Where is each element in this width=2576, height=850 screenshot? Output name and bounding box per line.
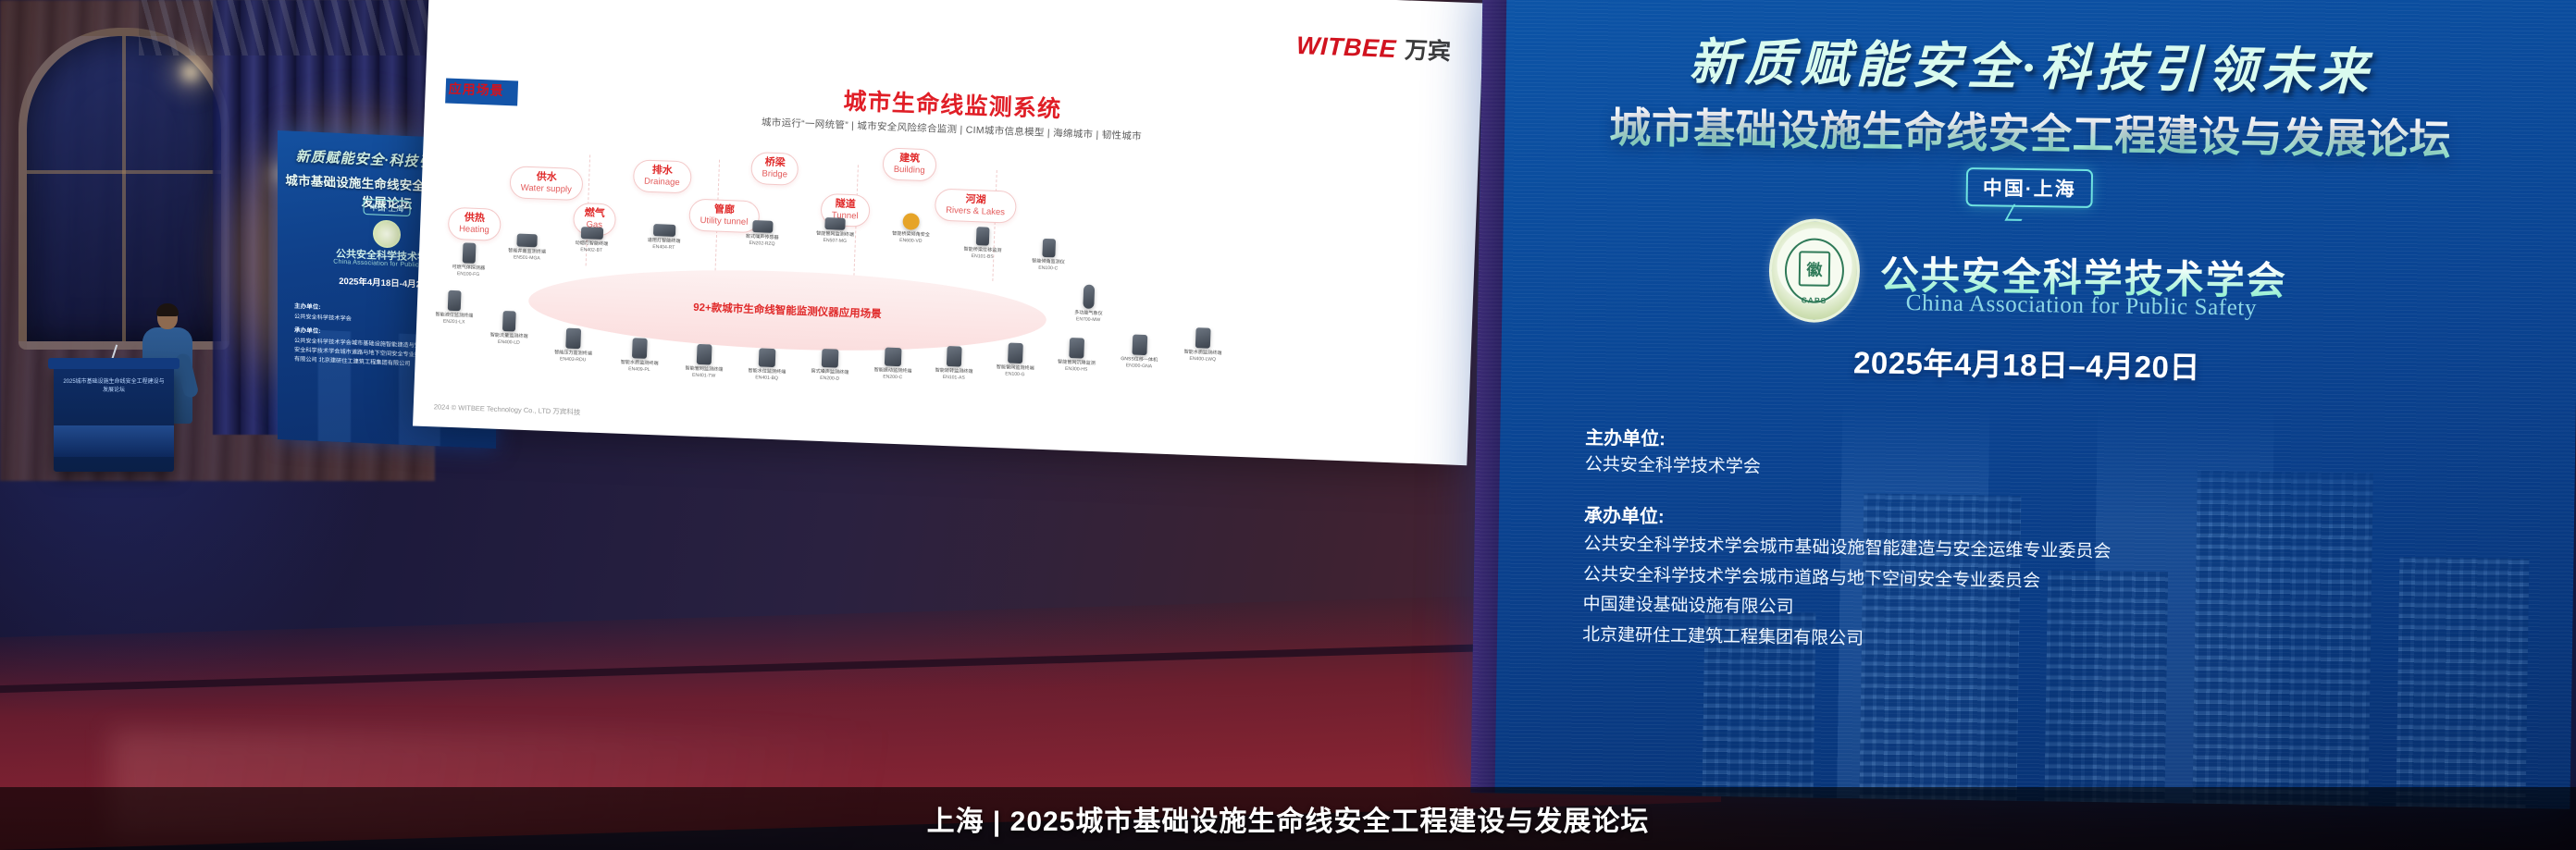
category-en: Drainage bbox=[644, 177, 680, 189]
device-icon bbox=[825, 217, 846, 230]
device-item: 智能水位监测终端 EN401-BQ bbox=[748, 348, 786, 381]
conference-photo-screenshot: 新质赋能安全·科技引领未来 城市基础设施生命线安全工程建设与发展论坛 中国·上海… bbox=[0, 0, 2576, 850]
device-item: 智能液位监测终端 EN201-LX bbox=[435, 289, 474, 325]
category-en: Utility tunnel bbox=[700, 216, 748, 228]
device-item: 智能水质监测终端 EN400-LWQ bbox=[1183, 327, 1222, 363]
category-en: Bridge bbox=[762, 169, 787, 181]
device-icon bbox=[1042, 239, 1056, 258]
device-icon bbox=[976, 227, 990, 246]
led-coorganizer-list: 公共安全科学技术学会城市基础设施智能建造与安全运维专业委员会 公共安全科学技术学… bbox=[1582, 530, 2112, 659]
arched-window bbox=[19, 28, 229, 350]
category-en: Water supply bbox=[521, 183, 572, 196]
device-item: 多功能气象仪 EN700-MW bbox=[1074, 284, 1104, 323]
slide-footer: 2024 © WITBEE Technology Co., LTD 万宾科技 bbox=[434, 401, 581, 417]
device-item: 智能井盖监测终端 EN501-MGA bbox=[508, 233, 547, 261]
led-host-label: 主办单位: bbox=[1585, 423, 1666, 450]
led-coorganizer-label: 承办单位: bbox=[1584, 500, 1665, 528]
device-icon bbox=[752, 220, 773, 233]
caption-text: 上海 | 2025城市基础设施生命线安全工程建设与发展论坛 bbox=[927, 798, 1650, 839]
main-led-wall: 新质赋能安全·科技引领未来 城市基础设施生命线安全工程建设与发展论坛 中国·上海… bbox=[1471, 0, 2576, 809]
witbee-logo: WITBEE 万宾 bbox=[1295, 28, 1451, 67]
device-icon bbox=[632, 338, 648, 359]
device-icon bbox=[448, 290, 462, 312]
category-pill: 建筑 Building bbox=[882, 147, 936, 181]
device-item: GNSS位移一体机 EN300-GNA bbox=[1121, 334, 1158, 369]
led-host-value: 公共安全科学技术学会 bbox=[1585, 450, 1761, 478]
category-cn: 建筑 bbox=[894, 153, 925, 166]
category-cn: 桥梁 bbox=[762, 156, 788, 169]
column-divider bbox=[992, 170, 997, 281]
device-item: 道阻灯智能终端 EN404-RT bbox=[647, 224, 681, 251]
device-icon bbox=[502, 311, 516, 332]
device-code: EN501-MGA bbox=[508, 254, 546, 262]
category-pill: 桥梁 Bridge bbox=[750, 152, 799, 186]
device-item: 智能转转监测终端 EN101-AS bbox=[935, 346, 973, 381]
device-icon bbox=[759, 348, 776, 367]
device-item: 智能流量监测终端 EN400-LD bbox=[489, 311, 528, 346]
category-pill: 河湖 Rivers & Lakes bbox=[935, 188, 1017, 223]
left-banner-seal-icon bbox=[373, 219, 401, 248]
category-en: Heating bbox=[459, 225, 489, 237]
device-icon bbox=[517, 234, 539, 248]
device-icon bbox=[566, 328, 582, 350]
category-pill: 供水 Water supply bbox=[509, 166, 583, 201]
category-en: Building bbox=[894, 165, 925, 177]
device-item: 智能桥梁位移监测 EN101-BS bbox=[963, 227, 1002, 260]
device-icon bbox=[822, 349, 839, 368]
device-icon bbox=[947, 346, 962, 367]
device-icon bbox=[581, 227, 603, 240]
category-cn: 隧道 bbox=[832, 198, 859, 211]
category-cn: 燃气 bbox=[585, 207, 605, 220]
category-pill: 供热 Heating bbox=[448, 207, 502, 241]
device-icon bbox=[1084, 285, 1096, 309]
device-item: 智能桥梁倾角安全 EN600-VD bbox=[892, 213, 931, 244]
led-location-badge: 中国·上海 bbox=[1966, 167, 2094, 208]
category-pill: 排水 Drainage bbox=[633, 159, 692, 193]
category-cn: 供热 bbox=[459, 212, 489, 226]
device-icon bbox=[885, 348, 902, 367]
device-item: 动烟灯智能终端 EN402-BT bbox=[575, 227, 609, 253]
category-cn: 排水 bbox=[644, 165, 680, 179]
podium-top bbox=[48, 358, 180, 369]
witbee-logo-en: WITBEE bbox=[1296, 31, 1397, 64]
device-icon bbox=[1132, 335, 1147, 356]
device-item: 窖式噪声传感器 EN202-RZQ bbox=[746, 220, 780, 247]
device-icon bbox=[903, 213, 921, 230]
presentation-slide: WITBEE 万宾 应用场景 城市生命线监测系统 城市运行“一网统管” | 城市… bbox=[413, 0, 1484, 465]
device-icon bbox=[697, 344, 712, 365]
device-item: 智能管网监测终端 EN401-TW bbox=[685, 343, 724, 378]
device-item: 窖式噪声监测终端 EN200-D bbox=[811, 349, 849, 382]
speaker-hair bbox=[156, 303, 179, 316]
device-icon bbox=[1070, 338, 1085, 359]
device-code: EN403-RDU bbox=[554, 356, 592, 363]
lighting-truss bbox=[139, 0, 444, 55]
left-banner-location-badge: 中国·上海 bbox=[364, 199, 411, 216]
left-banner-host-value: 公共安全科学技术学会 bbox=[294, 314, 352, 323]
device-code: EN300-GNA bbox=[1121, 363, 1158, 369]
podium-light-band bbox=[54, 425, 174, 457]
caption-bar: 上海 | 2025城市基础设施生命线安全工程建设与发展论坛 bbox=[0, 787, 2576, 850]
device-item: 智能振动监测终端 EN200-C bbox=[873, 347, 912, 380]
device-code: EN400-LWQ bbox=[1183, 356, 1221, 363]
podium-plate: 2025城市基础设施生命线安全工程建设与发展论坛 bbox=[63, 378, 165, 402]
device-item: 可燃气体探测器 EN100-FG bbox=[452, 242, 486, 277]
witbee-logo-cn: 万宾 bbox=[1404, 31, 1451, 67]
device-item: 智能管网沉降监测 EN300-HS bbox=[1058, 338, 1096, 373]
device-item: 智能管网监测终端 EN100-G bbox=[996, 342, 1034, 377]
device-item: 智能管网监测终端 EN507-MG bbox=[816, 217, 855, 244]
podium: 2025城市基础设施生命线安全工程建设与发展论坛 bbox=[54, 365, 174, 472]
slide-surface: WITBEE 万宾 应用场景 城市生命线监测系统 城市运行“一网统管” | 城市… bbox=[413, 0, 1484, 465]
category-en: Rivers & Lakes bbox=[946, 205, 1005, 218]
device-code: EN700-MW bbox=[1074, 316, 1103, 323]
device-icon bbox=[1195, 327, 1211, 349]
device-code: EN202-RZQ bbox=[746, 240, 779, 247]
device-item: 智能水质监测终端 EN409-PL bbox=[620, 338, 659, 373]
slide-content: WITBEE 万宾 应用场景 城市生命线监测系统 城市运行“一网统管” | 城市… bbox=[413, 0, 1484, 465]
device-icon bbox=[1008, 343, 1023, 364]
device-icon bbox=[653, 224, 675, 237]
device-item: 智能压力监测终端 EN403-RDU bbox=[554, 327, 593, 363]
spotlight-1 bbox=[183, 65, 198, 80]
device-item: 智能倾角监测仪 EN100-C bbox=[1032, 238, 1066, 271]
device-icon bbox=[462, 242, 476, 264]
caps-seal-glyph: 徽 bbox=[1799, 251, 1831, 287]
